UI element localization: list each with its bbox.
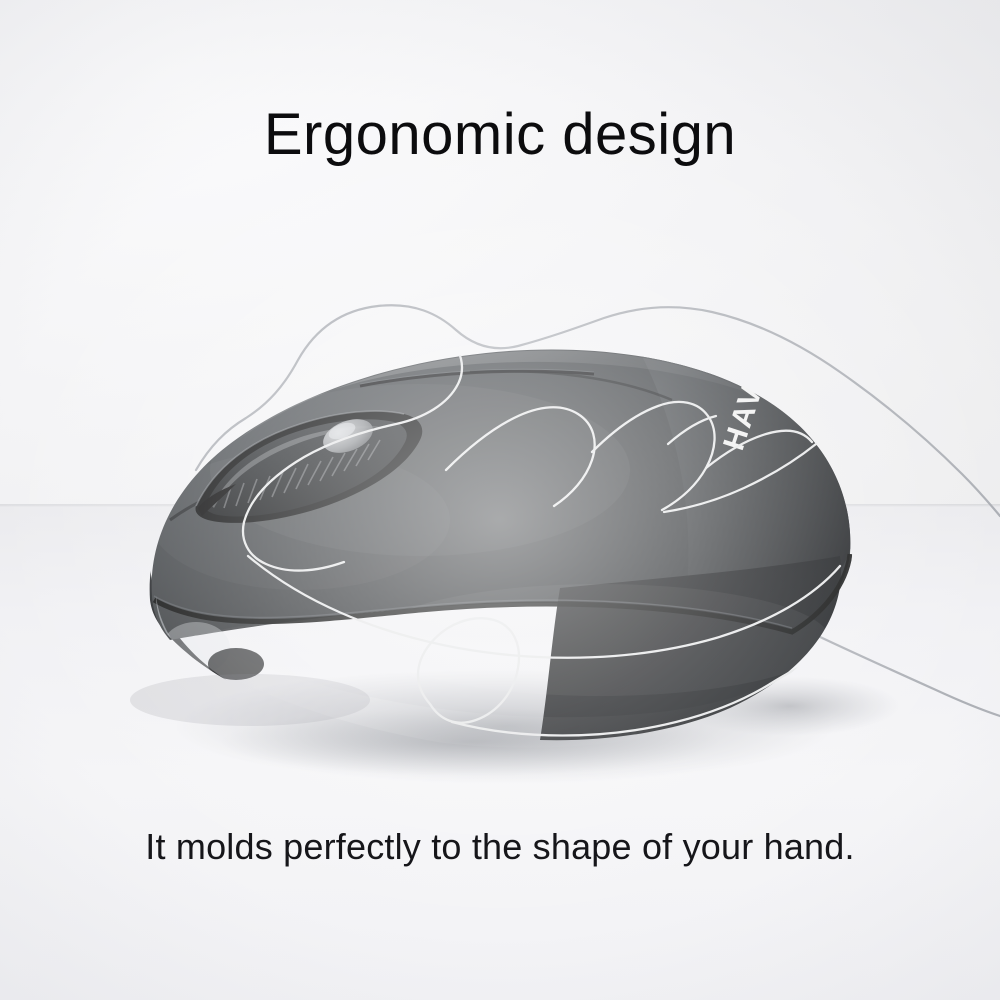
product-image-canvas: HAV [0, 0, 1000, 1000]
caption-text: It molds perfectly to the shape of your … [0, 829, 1000, 865]
page-title: Ergonomic design [0, 106, 1000, 164]
